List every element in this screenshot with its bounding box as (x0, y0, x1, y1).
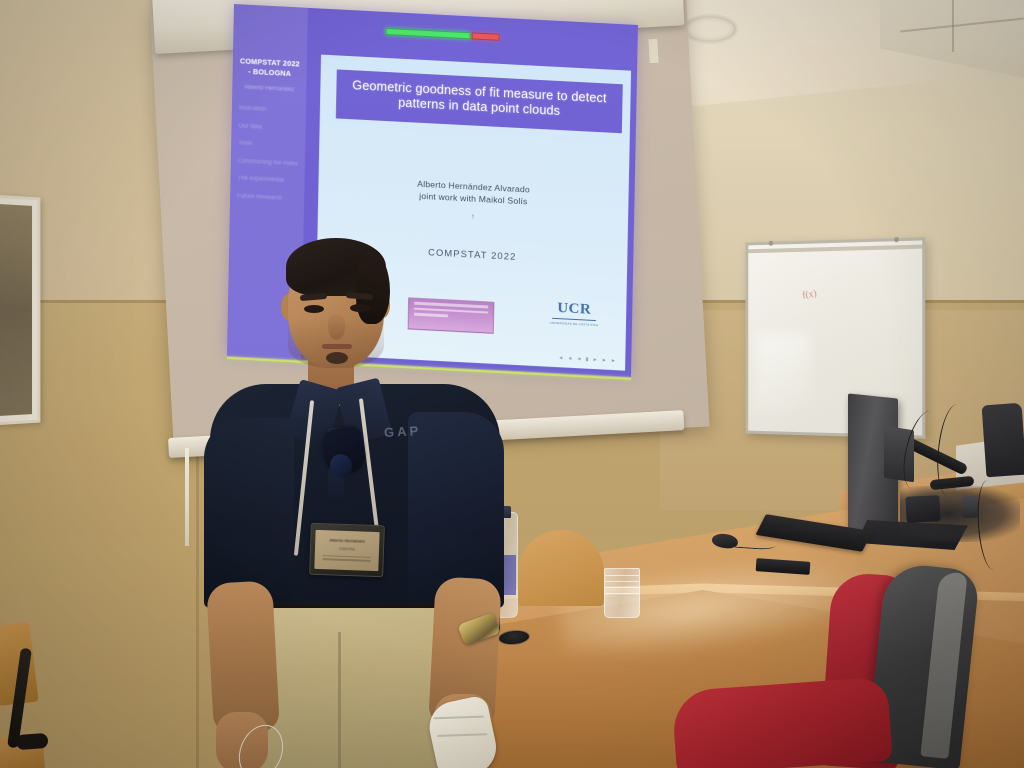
name-badge-org: Costa Rica (315, 546, 379, 552)
trouser-seam (338, 632, 341, 768)
wooden-chair-back[interactable] (518, 530, 604, 606)
presenter: GAP Alberto Hernández Costa Rica (196, 232, 516, 768)
ucr-logo: UCR UNIVERSIDAD DE COSTA RICA (544, 300, 604, 327)
whiteboard: f(x) (746, 237, 926, 438)
ceiling-speaker-icon (682, 14, 738, 44)
nose (328, 314, 345, 340)
screen-bracket (647, 38, 659, 65)
progress-segment-red[interactable] (472, 32, 500, 40)
mask-fold (437, 733, 487, 737)
beamer-progress-bar (386, 28, 500, 41)
shirt-brand-label: GAP (384, 423, 422, 440)
far-chair (982, 403, 1024, 478)
beamer-nav-symbols[interactable]: ◄ ◄ ◄ ▮ ► ► ► (558, 355, 617, 364)
ucr-logo-main: UCR (544, 300, 604, 318)
goatee (326, 352, 348, 364)
arm-left (206, 580, 280, 733)
framed-picture (0, 194, 40, 425)
sidebar-item-the-experimental[interactable]: The experimental (235, 175, 299, 186)
ceiling-tile-divider (952, 0, 954, 52)
mask-fold (434, 716, 484, 720)
framed-picture-content (0, 204, 32, 416)
progress-segment-green[interactable] (386, 28, 471, 39)
name-badge-name: Alberto Hernández (315, 537, 379, 545)
desk-cylinder-object (962, 496, 978, 518)
whiteboard-pin (769, 241, 774, 246)
eye-left (304, 305, 324, 313)
whiteboard-pin (894, 237, 899, 242)
sidebar-item-motivation[interactable]: Motivation (237, 105, 301, 116)
sidebar-item-constructing-the-index[interactable]: Constructing the Index (236, 158, 300, 169)
speaker-box (905, 495, 940, 523)
name-badge-card: Alberto Hernández Costa Rica (314, 530, 379, 571)
sidebar-title: COMPSTAT 2022 - BOLOGNA (238, 56, 302, 79)
office-chair-seat[interactable] (671, 677, 892, 768)
sidebar-item-our-idea[interactable]: Our Idea (236, 123, 300, 134)
whiteboard-tray (748, 245, 922, 254)
stacked-plastic-cups[interactable] (604, 568, 640, 618)
name-badge: Alberto Hernández Costa Rica (309, 523, 385, 578)
ucr-logo-sub: UNIVERSIDAD DE COSTA RICA (544, 321, 604, 328)
mouth (322, 344, 352, 349)
shirt-sleeve-left (204, 418, 294, 608)
whiteboard-glare (756, 333, 810, 412)
whiteboard-marking: f(x) (802, 288, 818, 301)
sidebar-item-tools[interactable]: Tools (236, 140, 300, 151)
slide-title: Geometric goodness of fit measure to det… (336, 69, 623, 133)
presentation-photo-scene: COMPSTAT 2022 - BOLOGNA Alberto Hernánde… (0, 0, 1024, 768)
sidebar-nav: Motivation Our Idea Tools Constructing t… (235, 105, 301, 203)
projection-screen-cord[interactable] (185, 448, 189, 546)
sidebar-author: Alberto Hernández (237, 85, 301, 96)
name-badge-lines (315, 555, 379, 562)
eye-right (350, 304, 370, 312)
sidebar-item-future-research[interactable]: Future Research (235, 193, 299, 204)
seat-metal-foot (16, 733, 49, 750)
slide-authors: Alberto Hernández Alvarado joint work wi… (318, 173, 628, 214)
